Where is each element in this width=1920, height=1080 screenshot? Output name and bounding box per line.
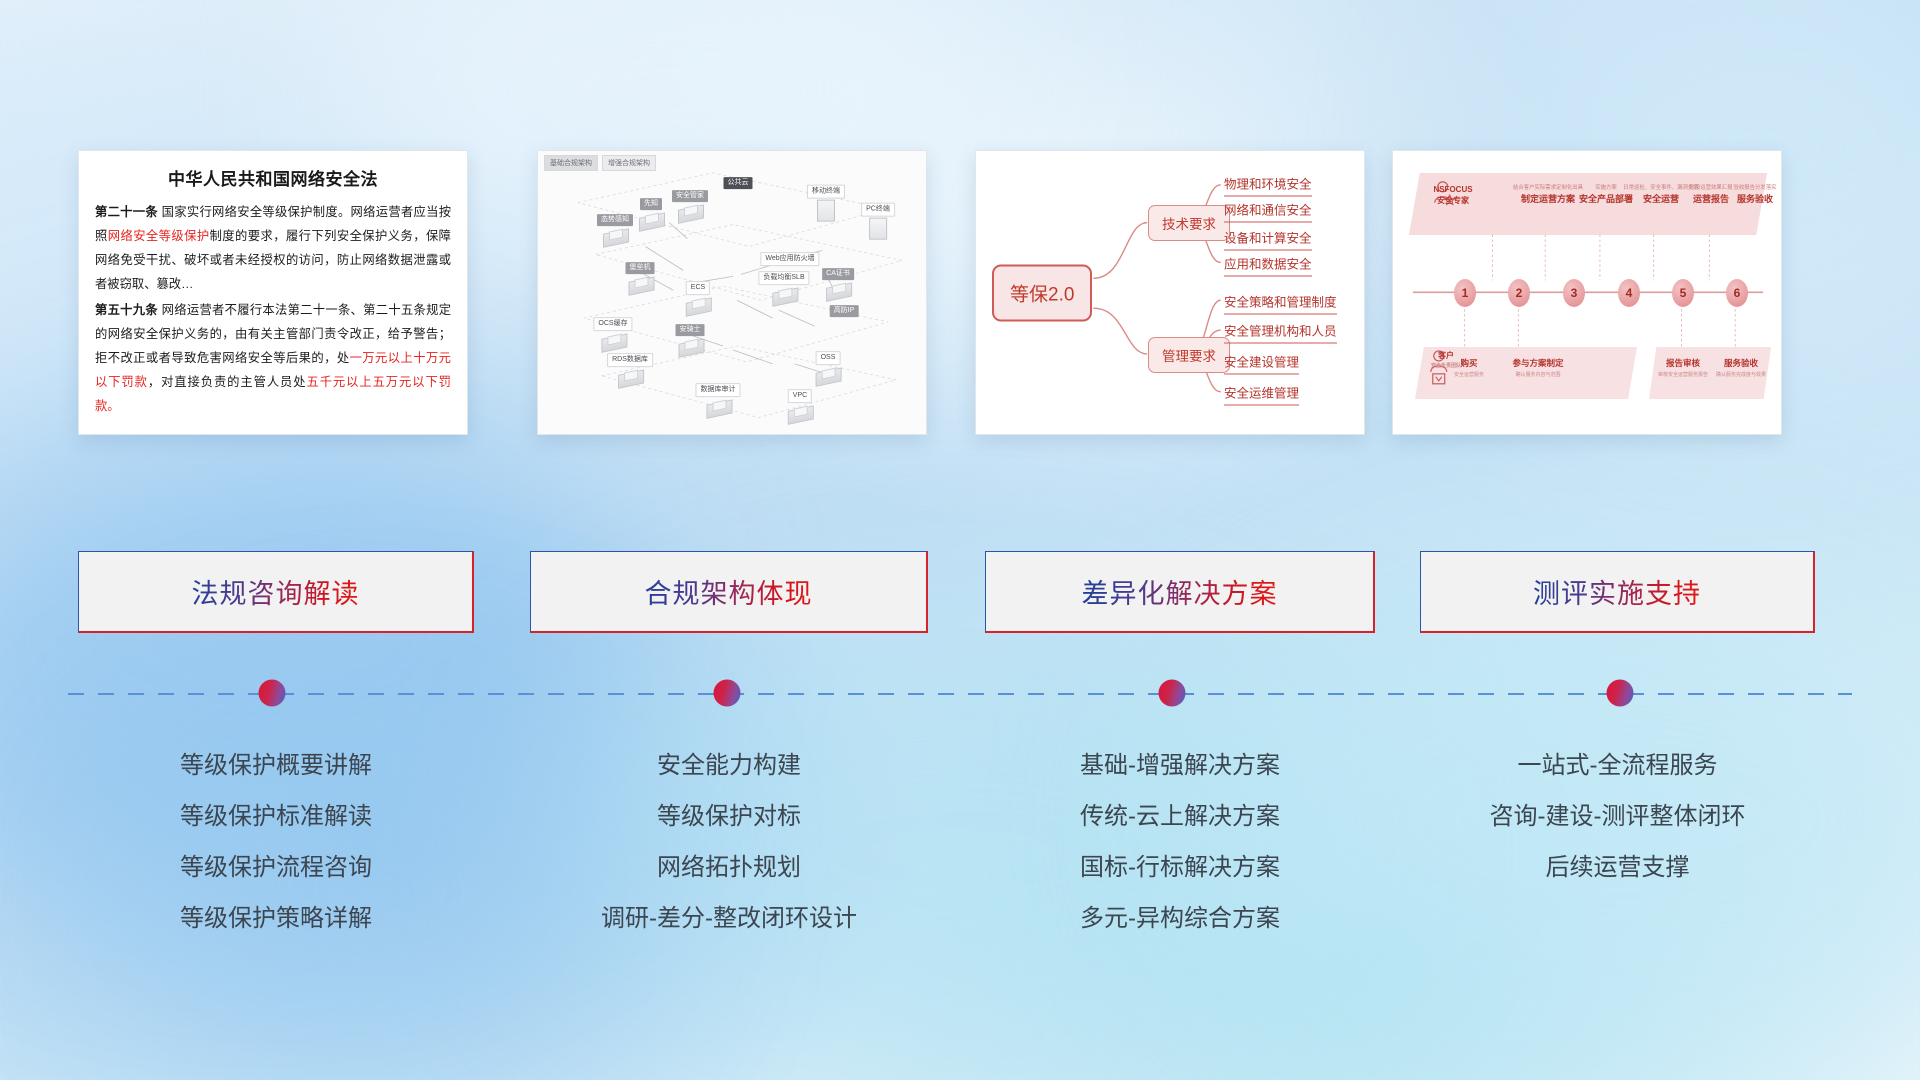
arch-node: OSS: [816, 351, 841, 383]
list-item: 安全能力构建: [530, 740, 928, 791]
arch-node: 态势感知: [597, 214, 633, 244]
arch-node-label: CA证书: [822, 268, 854, 280]
timeline-top-step: 日常巡检、安全事件、漏洞处置 安全运营: [1623, 185, 1698, 206]
timeline-dashed-line: [68, 693, 1852, 695]
step-main: 制定运营方案: [1513, 194, 1583, 206]
category-labels-row: 法规咨询解读 合规架构体现 差异化解决方案 测评实施支持: [0, 551, 1920, 633]
arch-node: 先知: [639, 198, 663, 228]
step-sub: 审核安全运营服务报告: [1658, 371, 1708, 378]
mindmap-branch-technical: 技术要求: [1148, 205, 1230, 241]
arch-node-label: 态势感知: [597, 214, 633, 226]
arch-node: VPC: [788, 389, 812, 421]
mindmap-root: 等保2.0: [992, 265, 1092, 322]
category-label: 法规咨询解读: [192, 572, 360, 611]
timeline-top-step: 验收报告分发落实 服务验收: [1733, 185, 1776, 206]
nsfocus-timeline-diagram: NSFOCUS 安全专家 客户 安全负责团队 结合客户实际需求定制化出具 制定运…: [1393, 151, 1781, 434]
arch-node-label: OSS: [816, 351, 841, 365]
arch-node-label: ECS: [686, 281, 710, 295]
arch-node: 高防IP: [830, 305, 859, 317]
list-item: 基础-增强解决方案: [985, 740, 1375, 791]
mindmap-branch-management: 管理要求: [1148, 337, 1230, 373]
arch-node: RDS数据库: [607, 353, 653, 385]
arch-node-label: 堡垒机: [626, 262, 655, 274]
law-run-highlight: 网络安全等级保护: [108, 229, 210, 243]
device-icon: [817, 199, 835, 221]
arch-node-label: 安全管家: [672, 190, 708, 202]
step-sub: 安全运营服务: [1454, 371, 1484, 378]
timeline-bottom-step: 购买 安全运营服务: [1454, 357, 1484, 378]
mindmap-leaf: 物理和环境安全: [1224, 174, 1312, 197]
architecture-diagram: 基础合规架构 增强合规架构: [538, 151, 926, 434]
law-title: 中华人民共和国网络安全法: [95, 165, 451, 190]
arch-node: 安全管家: [672, 190, 708, 220]
server-cube-icon: [678, 203, 702, 220]
server-cube-icon: [678, 337, 702, 354]
arch-node: Web应用防火墙: [760, 252, 819, 266]
list-item: 等级保护对标: [530, 791, 928, 842]
server-cube-icon: [639, 211, 663, 228]
category-box-regulation-consulting[interactable]: 法规咨询解读: [78, 551, 474, 633]
arch-node-label: 负载均衡SLB: [758, 271, 809, 285]
timeline-marker: 5: [1672, 279, 1694, 307]
category-box-assessment-support[interactable]: 测评实施支持: [1420, 551, 1815, 633]
step-main: 参与方案制定: [1512, 357, 1563, 369]
detail-list-assessment-support: 一站式-全流程服务 咨询-建设-测评整体闭环 后续运营支撑: [1420, 740, 1815, 893]
arch-node-label: Web应用防火墙: [760, 252, 819, 266]
timeline-bottom-step: 报告审核 审核安全运营服务报告: [1658, 357, 1708, 378]
step-sub: 确认服务内容与范围: [1512, 371, 1563, 378]
arch-node: ECS: [686, 281, 710, 313]
detail-lists-row: 等级保护概要讲解 等级保护标准解读 等级保护流程咨询 等级保护策略详解 安全能力…: [0, 740, 1920, 1000]
list-item: 多元-异构综合方案: [985, 893, 1375, 944]
step-sub: 确认服务完成度与效果: [1716, 371, 1766, 378]
timeline-node-dot: [1159, 680, 1186, 707]
law-paragraph: 第二十一条 国家实行网络安全等级保护制度。网络运营者应当按照网络安全等级保护制度…: [95, 201, 451, 297]
timeline-bottom-step: 服务验收 确认服务完成度与效果: [1716, 357, 1766, 378]
arch-node: PC终端: [861, 203, 895, 240]
card-cybersecurity-law[interactable]: 中华人民共和国网络安全法 第二十一条 国家实行网络安全等级保护制度。网络运营者应…: [78, 150, 468, 435]
nsfocus-brand-name: NSFOCUS: [1423, 185, 1483, 196]
list-item: 等级保护标准解读: [78, 791, 474, 842]
mindmap-leaf: 应用和数据安全: [1224, 254, 1312, 277]
arch-node: 安骑士: [676, 324, 705, 354]
timeline-marker: 2: [1508, 279, 1530, 307]
card-service-timeline[interactable]: NSFOCUS 安全专家 客户 安全负责团队 结合客户实际需求定制化出具 制定运…: [1392, 150, 1782, 435]
arch-node: CA证书: [822, 268, 854, 298]
arch-node: 公共云: [724, 177, 753, 189]
list-item: 一站式-全流程服务: [1420, 740, 1815, 791]
arch-node-label: OCS缓存: [593, 317, 632, 331]
detail-list-differentiated-solution: 基础-增强解决方案 传统-云上解决方案 国标-行标解决方案 多元-异构综合方案: [985, 740, 1375, 944]
list-item: 国标-行标解决方案: [985, 842, 1375, 893]
step-main: 服务验收: [1733, 194, 1776, 206]
card-mindmap[interactable]: 等保2.0 技术要求 管理要求 物理和环境安全 网络和通信安全 设备和计算安全 …: [975, 150, 1365, 435]
arch-node-label: 移动终端: [807, 185, 845, 199]
detail-list-compliance-architecture: 安全能力构建 等级保护对标 网络拓扑规划 调研-差分-整改闭环设计: [530, 740, 928, 944]
law-article-number: 第五十九条: [95, 303, 158, 317]
mindmap-leaf: 安全管理机构和人员: [1224, 321, 1337, 344]
list-item: 传统-云上解决方案: [985, 791, 1375, 842]
mindmap-leaf: 网络和通信安全: [1224, 200, 1312, 223]
mindmap-leaf: 设备和计算安全: [1224, 228, 1312, 251]
detail-list-regulation-consulting: 等级保护概要讲解 等级保护标准解读 等级保护流程咨询 等级保护策略详解: [78, 740, 474, 944]
arch-node-label: PC终端: [861, 203, 895, 217]
card-cloud-architecture[interactable]: 基础合规架构 增强合规架构: [537, 150, 927, 435]
arch-node-label: 安骑士: [676, 324, 705, 336]
category-label: 测评实施支持: [1533, 572, 1701, 611]
category-box-compliance-architecture[interactable]: 合规架构体现: [530, 551, 928, 633]
arch-node-label: VPC: [788, 389, 812, 403]
mindmap-leaf: 安全策略和管理制度: [1224, 292, 1337, 315]
category-label: 合规架构体现: [645, 572, 813, 611]
step-main: 报告审核: [1658, 357, 1708, 369]
arch-node: 数据库审计: [696, 383, 741, 415]
law-run: ，对直接负责的主管人员处: [148, 375, 307, 389]
timeline-top-step: 阶段运营效果汇报 运营报告: [1689, 185, 1732, 206]
nsfocus-brand-sub: 安全专家: [1423, 196, 1483, 207]
server-cube-icon: [603, 227, 627, 244]
mindmap-diagram: 等保2.0 技术要求 管理要求 物理和环境安全 网络和通信安全 设备和计算安全 …: [976, 151, 1364, 434]
server-cube-icon: [706, 398, 730, 415]
step-main: 安全运营: [1623, 194, 1698, 206]
timeline-top-step: 结合客户实际需求定制化出具 制定运营方案: [1513, 185, 1583, 206]
mindmap-leaf: 安全建设管理: [1224, 352, 1299, 375]
arch-node: 堡垒机: [626, 262, 655, 292]
arch-node: OCS缓存: [593, 317, 632, 349]
list-item: 后续运营支撑: [1420, 842, 1815, 893]
list-item: 等级保护流程咨询: [78, 842, 474, 893]
server-cube-icon: [628, 275, 652, 292]
law-paragraph: 第五十九条 网络运营者不履行本法第二十一条、第二十五条规定的网络安全保护义务的，…: [95, 299, 451, 419]
slide-stage: 中华人民共和国网络安全法 第二十一条 国家实行网络安全等级保护制度。网络运营者应…: [0, 0, 1920, 1080]
timeline-node-dot: [259, 680, 286, 707]
step-main: 购买: [1454, 357, 1484, 369]
arch-node-label: 先知: [640, 198, 662, 210]
category-label: 差异化解决方案: [1082, 572, 1278, 611]
timeline-marker: 1: [1454, 279, 1476, 307]
timeline-marker: 6: [1726, 279, 1748, 307]
step-sub: 验收报告分发落实: [1733, 185, 1776, 192]
arch-node: 负载均衡SLB: [758, 271, 809, 303]
server-cube-icon: [816, 366, 840, 383]
server-cube-icon: [601, 332, 625, 349]
arch-node-label: 公共云: [724, 177, 753, 189]
preview-cards-row: 中华人民共和国网络安全法 第二十一条 国家实行网络安全等级保护制度。网络运营者应…: [0, 0, 1920, 440]
mindmap-leaf: 安全运维管理: [1224, 383, 1299, 406]
server-cube-icon: [618, 368, 642, 385]
list-item: 网络拓扑规划: [530, 842, 928, 893]
server-cube-icon: [788, 404, 812, 421]
server-cube-icon: [772, 286, 796, 303]
step-sub: 阶段运营效果汇报: [1689, 185, 1732, 192]
timeline-marker: 4: [1618, 279, 1640, 307]
timeline-node-dot: [714, 680, 741, 707]
server-cube-icon: [826, 281, 850, 298]
step-main: 运营报告: [1689, 194, 1732, 206]
timeline-marker: 3: [1563, 279, 1585, 307]
timeline-bottom-step: 参与方案制定 确认服务内容与范围: [1512, 357, 1563, 378]
list-item: 等级保护策略详解: [78, 893, 474, 944]
category-box-differentiated-solution[interactable]: 差异化解决方案: [985, 551, 1375, 633]
list-item: 咨询-建设-测评整体闭环: [1420, 791, 1815, 842]
arch-node-label: RDS数据库: [607, 353, 653, 367]
step-sub: 日常巡检、安全事件、漏洞处置: [1623, 185, 1698, 192]
law-document: 中华人民共和国网络安全法 第二十一条 国家实行网络安全等级保护制度。网络运营者应…: [79, 151, 467, 434]
timeline-node-dot: [1607, 680, 1634, 707]
list-item: 等级保护概要讲解: [78, 740, 474, 791]
arch-node-label: 数据库审计: [696, 383, 741, 397]
step-sub: 结合客户实际需求定制化出具: [1513, 185, 1583, 192]
server-cube-icon: [686, 296, 710, 313]
nsfocus-brand: NSFOCUS 安全专家: [1423, 185, 1483, 207]
device-icon: [869, 217, 887, 239]
arch-node-label: 高防IP: [830, 305, 859, 317]
arch-node: 移动终端: [807, 185, 845, 222]
law-article-number: 第二十一条: [95, 205, 158, 219]
list-item: 调研-差分-整改闭环设计: [530, 893, 928, 944]
step-main: 服务验收: [1716, 357, 1766, 369]
